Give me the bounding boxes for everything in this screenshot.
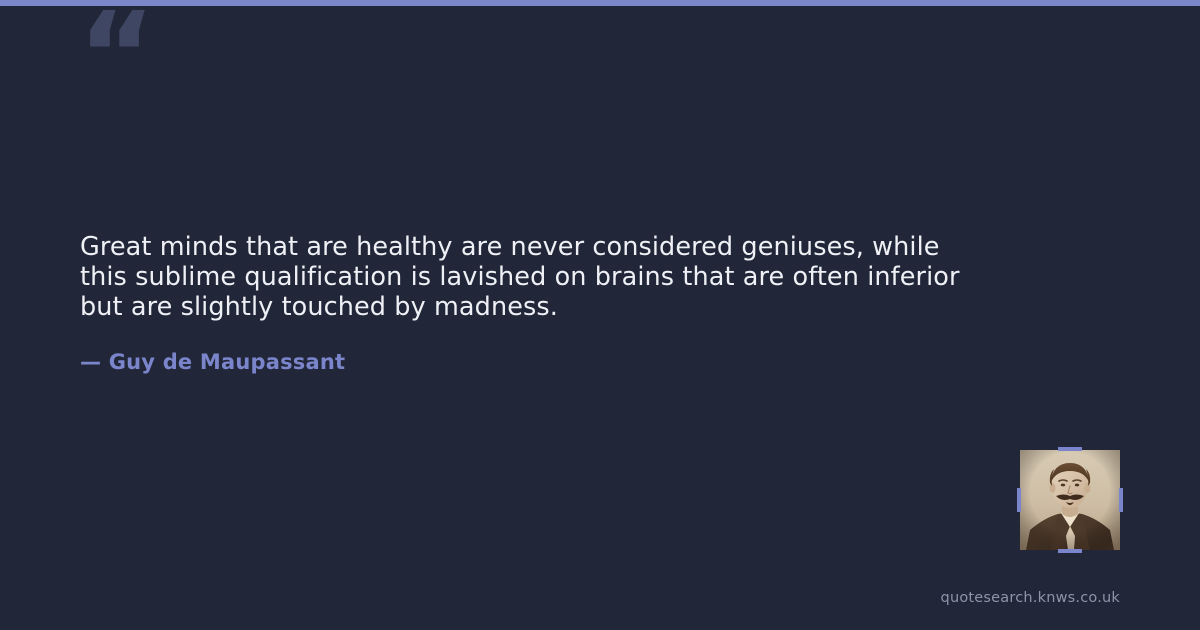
site-watermark: quotesearch.knws.co.uk: [941, 589, 1120, 607]
quote-card: “ Great minds that are healthy are never…: [0, 0, 1200, 630]
resize-handle-bottom-center[interactable]: [1058, 549, 1082, 553]
quote-text: Great minds that are healthy are never c…: [80, 232, 980, 322]
left-double-quotation-mark-icon: “: [78, 0, 154, 114]
resize-handle-top-center[interactable]: [1058, 447, 1082, 451]
author-portrait[interactable]: [1020, 450, 1120, 550]
resize-handle-right-middle[interactable]: [1119, 488, 1123, 512]
author-portrait-container[interactable]: [1020, 450, 1120, 550]
resize-handle-left-middle[interactable]: [1017, 488, 1021, 512]
quote-author: — Guy de Maupassant: [80, 348, 345, 376]
top-accent-bar: [0, 0, 1200, 6]
